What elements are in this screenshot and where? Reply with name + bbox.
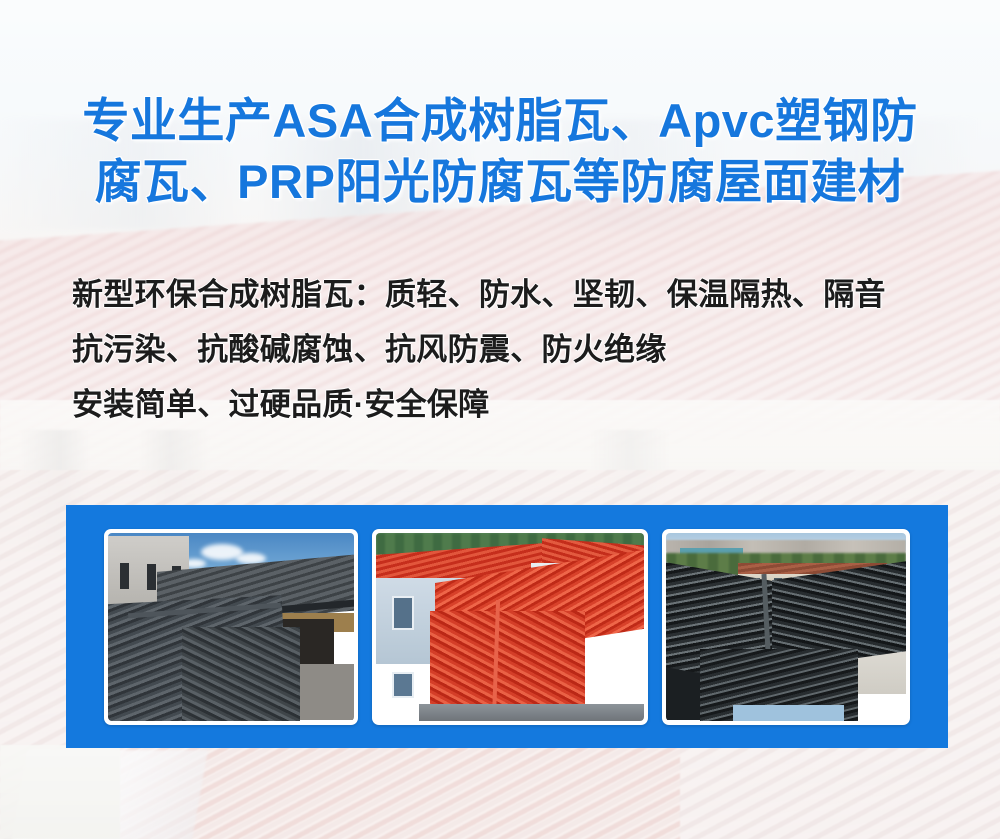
gallery-photo-3[interactable]: [662, 529, 910, 725]
headline: 专业生产ASA合成树脂瓦、Apvc塑钢防 腐瓦、PRP阳光防腐瓦等防腐屋面建材: [0, 90, 1000, 212]
grey-tile-roof-face-b: [182, 627, 300, 721]
subtitle-block: 新型环保合成树脂瓦：质轻、防水、坚韧、保温隔热、隔音 抗污染、抗酸碱腐蚀、抗风防…: [72, 272, 972, 437]
photo-gallery-panel: [66, 505, 948, 748]
gallery-photo-1[interactable]: [104, 529, 358, 725]
subtitle-line-1: 新型环保合成树脂瓦：质轻、防水、坚韧、保温隔热、隔音: [72, 272, 972, 327]
headline-line-1: 专业生产ASA合成树脂瓦、Apvc塑钢防: [0, 90, 1000, 151]
headline-line-2: 腐瓦、PRP阳光防腐瓦等防腐屋面建材: [0, 151, 1000, 212]
gallery-photo-2[interactable]: [372, 529, 648, 725]
roof-eave: [419, 704, 644, 721]
photo-black-resin-tile-roof: [666, 533, 906, 721]
window: [147, 564, 156, 590]
subtitle-line-2: 抗污染、抗酸碱腐蚀、抗风防震、防火绝缘: [72, 327, 972, 382]
window: [392, 672, 414, 698]
blue-canopy: [733, 705, 843, 720]
product-banner: 专业生产ASA合成树脂瓦、Apvc塑钢防 腐瓦、PRP阳光防腐瓦等防腐屋面建材 …: [0, 0, 1000, 839]
window: [120, 563, 129, 589]
window: [392, 596, 414, 630]
photo-grey-resin-tile-roof: [108, 533, 354, 721]
subtitle-line-3: 安装简单、过硬品质·安全保障: [72, 382, 972, 437]
photo-red-resin-tile-roof: [376, 533, 644, 721]
